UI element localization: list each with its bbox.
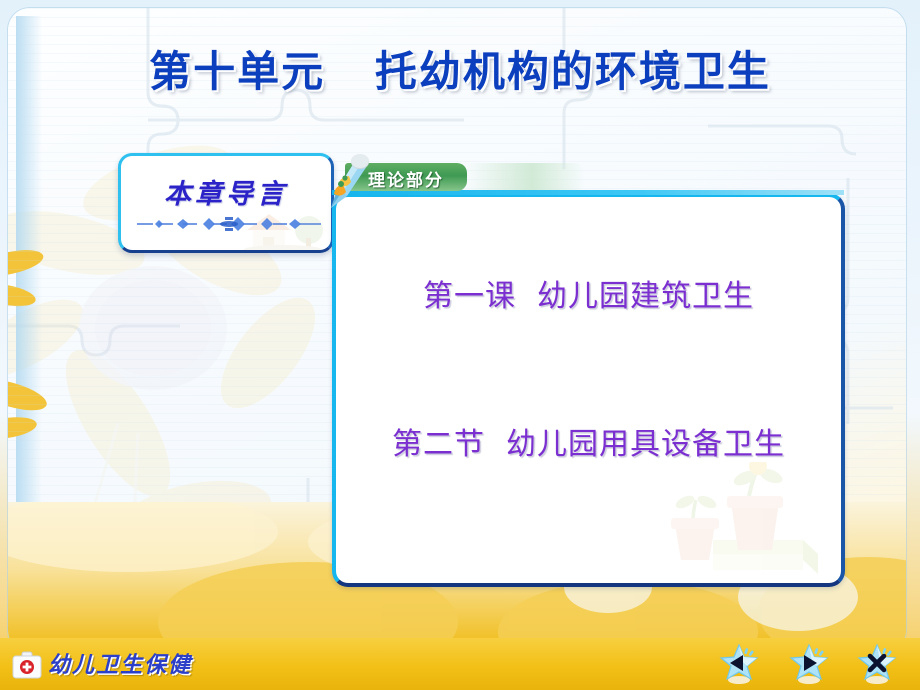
content-box: 第一课 幼儿园建筑卫生 第二节 幼儿园用具设备卫生: [332, 193, 845, 587]
left-sunflower-petals: [8, 223, 62, 473]
slide-title: 第十单元 托幼机构的环境卫生: [0, 38, 920, 99]
star-back-icon[interactable]: [718, 643, 760, 685]
potted-plants-on-book-illustration: [653, 462, 833, 587]
intro-card-label: 本章导言: [121, 172, 331, 211]
content-line-2: 第二节 幼儿园用具设备卫生: [336, 419, 841, 463]
intro-card[interactable]: 本章导言: [118, 153, 334, 253]
pencil-character-icon: [327, 150, 371, 212]
star-forward-icon[interactable]: [788, 643, 830, 685]
content-line-1: 第一课 幼儿园建筑卫生: [336, 271, 841, 315]
medical-kit-icon: [12, 651, 42, 679]
slide-canvas: 第十单元 托幼机构的环境卫生 本章导言: [0, 0, 920, 690]
star-close-icon[interactable]: [856, 643, 898, 685]
left-edge-stripe: [16, 16, 42, 652]
ornament-divider-icon: [131, 213, 327, 235]
footer-brand: 幼儿卫生保健: [48, 647, 192, 679]
